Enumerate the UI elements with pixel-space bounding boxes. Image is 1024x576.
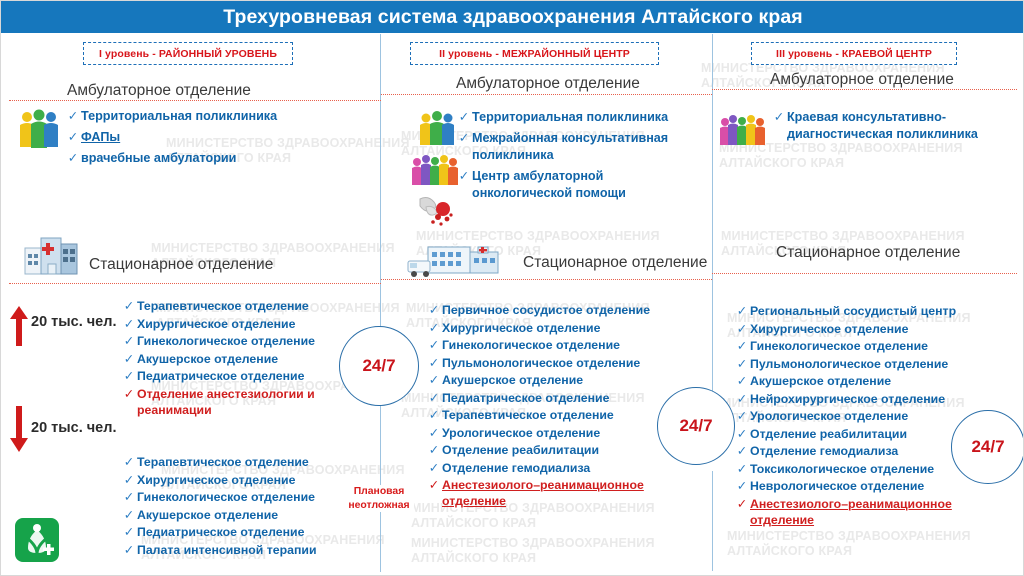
list-item-label: врачебные амбулатории — [81, 150, 236, 167]
population-below-label: 20 тыс. чел. — [31, 420, 117, 436]
checkmark-icon: ✓ — [734, 373, 750, 390]
list-item[interactable]: ✓Отделение анестезиологии и реанимации — [121, 386, 371, 419]
list-item[interactable]: ✓Акушерское отделение — [426, 372, 701, 389]
checkmark-icon: ✓ — [121, 454, 137, 471]
list-item[interactable]: ✓ФАПы — [65, 129, 365, 146]
list-item[interactable]: ✓Хирургическое отделение — [121, 472, 371, 489]
checkmark-icon: ✓ — [734, 356, 750, 373]
badge-24-7-col3: 24/7 — [951, 410, 1024, 484]
list-item[interactable]: ✓Первичное сосудистое отделение — [426, 302, 701, 319]
list-item-label: Акушерское отделение — [442, 372, 583, 388]
inpatient-divider-col2 — [381, 279, 712, 280]
checkmark-icon: ✓ — [426, 425, 442, 442]
watermark: МИНИСТЕРСТВО ЗДРАВООХРАНЕНИЯ АЛТАЙСКОГО … — [727, 529, 971, 559]
outpatient-list-col3: ✓Краевая консультативно-диагностическая … — [771, 109, 1006, 147]
oncology-icon — [416, 193, 460, 229]
list-item-label: Отделение анестезиологии и реанимации — [137, 386, 371, 419]
list-item[interactable]: ✓Гинекологическое отделение — [121, 333, 371, 350]
list-item-label: Хирургическое отделение — [137, 472, 295, 488]
list-item[interactable]: ✓Территориальная поликлиника — [456, 109, 706, 126]
checkmark-icon: ✓ — [426, 355, 442, 372]
outpatient-divider-col1 — [9, 100, 381, 101]
heading-outpatient-col3: Амбулаторное отделение — [770, 71, 954, 89]
list-item-label: Нейрохирургическое отделение — [750, 391, 945, 407]
checkmark-icon: ✓ — [771, 109, 787, 126]
list-item-label: Терапевтическое отделение — [137, 454, 309, 470]
list-item-label: Урологическое отделение — [750, 408, 908, 424]
list-item[interactable]: ✓Краевая консультативно-диагностическая … — [771, 109, 1006, 143]
checkmark-icon: ✓ — [426, 477, 442, 494]
list-item-label: Педиатрическое отделение — [442, 390, 609, 406]
arrow-down-icon — [9, 406, 29, 452]
list-item-label: Территориальная поликлиника — [81, 108, 277, 125]
list-item-label: Анестезиолого–реанимационное отделение — [750, 496, 1002, 529]
badge-24-7-col2-label: 24/7 — [679, 416, 712, 436]
column-separator-2 — [712, 34, 713, 434]
list-item-label: Пульмонологическое отделение — [442, 355, 640, 371]
list-item[interactable]: ✓Региональный сосудистый центр — [734, 303, 1002, 320]
people-group-icon — [416, 109, 458, 149]
list-item[interactable]: ✓Центр амбулаторной онкологической помощ… — [456, 168, 706, 202]
list-item-label: Межрайонная консультативная поликлиника — [472, 130, 706, 164]
list-item-label: Анестезиолого–реанимационное отделение — [442, 477, 701, 510]
list-item-label: Территориальная поликлиника — [472, 109, 668, 126]
list-item-label: Акушерское отделение — [137, 507, 278, 523]
list-item[interactable]: ✓Гинекологическое отделение — [121, 489, 371, 506]
list-item-label: Отделение гемодиализа — [442, 460, 590, 476]
badge-24-7-col3-label: 24/7 — [971, 437, 1004, 457]
watermark: МИНИСТЕРСТВО ЗДРАВООХРАНЕНИЯ АЛТАЙСКОГО … — [411, 536, 655, 566]
list-item[interactable]: ✓Нейрохирургическое отделение — [734, 391, 1002, 408]
checkmark-icon: ✓ — [426, 442, 442, 459]
column-separator-2b — [712, 471, 713, 571]
list-item[interactable]: ✓Отделение реабилитации — [426, 442, 701, 459]
checkmark-icon: ✓ — [121, 507, 137, 524]
checkmark-icon: ✓ — [734, 321, 750, 338]
list-item[interactable]: ✓Педиатрическое отделение — [426, 390, 701, 407]
checkmark-icon: ✓ — [734, 478, 750, 495]
list-item-label: Акушерское отделение — [750, 373, 891, 389]
list-item-label: Неврологическое отделение — [750, 478, 924, 494]
checkmark-icon: ✓ — [65, 150, 81, 167]
arrow-up-icon — [9, 306, 29, 346]
inpatient-upper-list-col2: ✓Первичное сосудистое отделение✓Хирургич… — [426, 302, 701, 511]
list-item[interactable]: ✓Территориальная поликлиника — [65, 108, 365, 125]
heading-outpatient-col2: Амбулаторное отделение — [456, 75, 640, 93]
list-item[interactable]: ✓Пульмонологическое отделение — [426, 355, 701, 372]
list-item[interactable]: ✓Хирургическое отделение — [121, 316, 371, 333]
heading-inpatient-col1: Стационарное отделение — [89, 256, 273, 274]
badge-24-7-col1: 24/7 — [339, 326, 419, 406]
page-title-text: Трехуровневая система здравоохранения Ал… — [223, 6, 803, 29]
list-item-label: ФАПы — [81, 129, 120, 146]
list-item-label: Хирургическое отделение — [442, 320, 600, 336]
list-item[interactable]: ✓Педиатрическое отделение — [121, 368, 371, 385]
badge-24-7-col2: 24/7 — [657, 387, 735, 465]
list-item[interactable]: ✓Хирургическое отделение — [426, 320, 701, 337]
list-item-label: Пульмонологическое отделение — [750, 356, 948, 372]
people-crowd-icon — [719, 111, 767, 149]
list-item-label: Гинекологическое отделение — [137, 489, 315, 505]
list-item[interactable]: ✓Педиатрическое отделение — [121, 524, 371, 541]
level-badge-1-label: I уровень - РАЙОННЫЙ УРОВЕНЬ — [99, 48, 277, 60]
outpatient-divider-col3 — [712, 89, 1017, 90]
checkmark-icon: ✓ — [426, 372, 442, 389]
checkmark-icon: ✓ — [426, 337, 442, 354]
list-item-label: Гинекологическое отделение — [442, 337, 620, 353]
checkmark-icon: ✓ — [121, 386, 137, 403]
checkmark-icon: ✓ — [734, 408, 750, 425]
list-item-label: Отделение гемодиализа — [750, 443, 898, 459]
list-item[interactable]: ✓Анестезиолого–реанимационное отделение — [734, 496, 1002, 529]
list-item-label: Гинекологическое отделение — [137, 333, 315, 349]
slide-root: МИНИСТЕРСТВО ЗДРАВООХРАНЕНИЯ АЛТАЙСКОГО … — [0, 0, 1024, 576]
heading-inpatient-col2: Стационарное отделение — [523, 254, 707, 272]
list-item-label: Терапевтическое отделение — [137, 298, 309, 314]
checkmark-icon: ✓ — [426, 407, 442, 424]
checkmark-icon: ✓ — [426, 302, 442, 319]
list-item[interactable]: ✓Межрайонная консультативная поликлиника — [456, 130, 706, 164]
population-above-label: 20 тыс. чел. — [31, 314, 117, 330]
list-item-label: Первичное сосудистое отделение — [442, 302, 650, 318]
list-item-label: Терапевтическое отделение — [442, 407, 614, 423]
heading-inpatient-col3: Стационарное отделение — [776, 244, 960, 262]
list-item[interactable]: ✓Пульмонологическое отделение — [734, 356, 1002, 373]
list-item-label: Педиатрическое отделение — [137, 368, 304, 384]
checkmark-icon: ✓ — [121, 489, 137, 506]
list-item-label: Центр амбулаторной онкологической помощи — [472, 168, 706, 202]
checkmark-icon: ✓ — [426, 320, 442, 337]
planned-urgent-line2: неотложная — [344, 499, 414, 513]
planned-urgent-label: Плановая неотложная — [344, 485, 414, 512]
list-item[interactable]: ✓Отделение гемодиализа — [426, 460, 701, 477]
page-title: Трехуровневая система здравоохранения Ал… — [1, 1, 1024, 33]
list-item-label: Региональный сосудистый центр — [750, 303, 956, 319]
checkmark-icon: ✓ — [65, 129, 81, 146]
inpatient-upper-list-col1: ✓Терапевтическое отделение✓Хирургическое… — [121, 298, 371, 419]
checkmark-icon: ✓ — [734, 426, 750, 443]
list-item[interactable]: ✓Терапевтическое отделение — [121, 454, 371, 471]
list-item[interactable]: ✓Неврологическое отделение — [734, 478, 1002, 495]
checkmark-icon: ✓ — [121, 368, 137, 385]
level-badge-2-label: II уровень - МЕЖРАЙОННЫЙ ЦЕНТР — [439, 48, 630, 60]
hospital-icon — [406, 241, 516, 279]
ministry-logo-icon — [13, 516, 61, 564]
checkmark-icon: ✓ — [456, 130, 472, 147]
checkmark-icon: ✓ — [121, 542, 137, 559]
level-badge-1[interactable]: I уровень - РАЙОННЫЙ УРОВЕНЬ — [83, 42, 293, 65]
checkmark-icon: ✓ — [121, 333, 137, 350]
outpatient-list-col1: ✓Территориальная поликлиника✓ФАПы✓ враче… — [65, 108, 365, 171]
list-item[interactable]: ✓Хирургическое отделение — [734, 321, 1002, 338]
list-item[interactable]: ✓Акушерское отделение — [121, 351, 371, 368]
list-item[interactable]: ✓Акушерское отделение — [121, 507, 371, 524]
checkmark-icon: ✓ — [121, 351, 137, 368]
checkmark-icon: ✓ — [456, 109, 472, 126]
list-item-label: Палата интенсивной терапии — [137, 542, 317, 558]
list-item[interactable]: ✓Терапевтическое отделение — [121, 298, 371, 315]
checkmark-icon: ✓ — [121, 298, 137, 315]
outpatient-divider-col2 — [381, 94, 712, 95]
list-item-label: Акушерское отделение — [137, 351, 278, 367]
level-badge-3-label: III уровень - КРАЕВОЙ ЦЕНТР — [776, 48, 932, 60]
outpatient-list-col2: ✓Территориальная поликлиника✓Межрайонная… — [456, 109, 706, 205]
column-separator-1 — [380, 34, 381, 364]
inpatient-divider-col3 — [712, 273, 1017, 274]
badge-24-7-col1-label: 24/7 — [362, 356, 395, 376]
inpatient-divider-col1 — [9, 283, 381, 284]
checkmark-icon: ✓ — [734, 338, 750, 355]
list-item[interactable]: ✓Гинекологическое отделение — [734, 338, 1002, 355]
list-item-label: Краевая консультативно-диагностическая п… — [787, 109, 1006, 143]
list-item-label: Педиатрическое отделение — [137, 524, 304, 540]
list-item[interactable]: ✓Анестезиолого–реанимационное отделение — [426, 477, 701, 510]
list-item-label: Хирургическое отделение — [750, 321, 908, 337]
people-group-icon — [15, 107, 63, 153]
checkmark-icon: ✓ — [734, 443, 750, 460]
checkmark-icon: ✓ — [65, 108, 81, 125]
checkmark-icon: ✓ — [426, 460, 442, 477]
list-item[interactable]: ✓Палата интенсивной терапии — [121, 542, 371, 559]
checkmark-icon: ✓ — [121, 316, 137, 333]
checkmark-icon: ✓ — [734, 461, 750, 478]
inpatient-lower-list-col1: ✓Терапевтическое отделение✓Хирургическое… — [121, 454, 371, 559]
list-item[interactable]: ✓ врачебные амбулатории — [65, 150, 365, 167]
checkmark-icon: ✓ — [121, 524, 137, 541]
list-item[interactable]: ✓Акушерское отделение — [734, 373, 1002, 390]
checkmark-icon: ✓ — [734, 496, 750, 513]
list-item[interactable]: ✓Гинекологическое отделение — [426, 337, 701, 354]
checkmark-icon: ✓ — [456, 168, 472, 185]
level-badge-2[interactable]: II уровень - МЕЖРАЙОННЫЙ ЦЕНТР — [410, 42, 659, 65]
checkmark-icon: ✓ — [121, 472, 137, 489]
list-item-label: Хирургическое отделение — [137, 316, 295, 332]
planned-urgent-line1: Плановая — [344, 485, 414, 499]
level-badge-3[interactable]: III уровень - КРАЕВОЙ ЦЕНТР — [751, 42, 957, 65]
list-item-label: Отделение реабилитации — [750, 426, 907, 442]
hospital-icon — [21, 232, 81, 278]
inpatient-upper-list-col3: ✓Региональный сосудистый центр✓Хирургиче… — [734, 303, 1002, 529]
checkmark-icon: ✓ — [734, 391, 750, 408]
list-item-label: Урологическое отделение — [442, 425, 600, 441]
checkmark-icon: ✓ — [734, 303, 750, 320]
list-item-label: Гинекологическое отделение — [750, 338, 928, 354]
list-item-label: Отделение реабилитации — [442, 442, 599, 458]
heading-outpatient-col1: Амбулаторное отделение — [67, 82, 251, 100]
list-item-label: Токсикологическое отделение — [750, 461, 934, 477]
checkmark-icon: ✓ — [426, 390, 442, 407]
